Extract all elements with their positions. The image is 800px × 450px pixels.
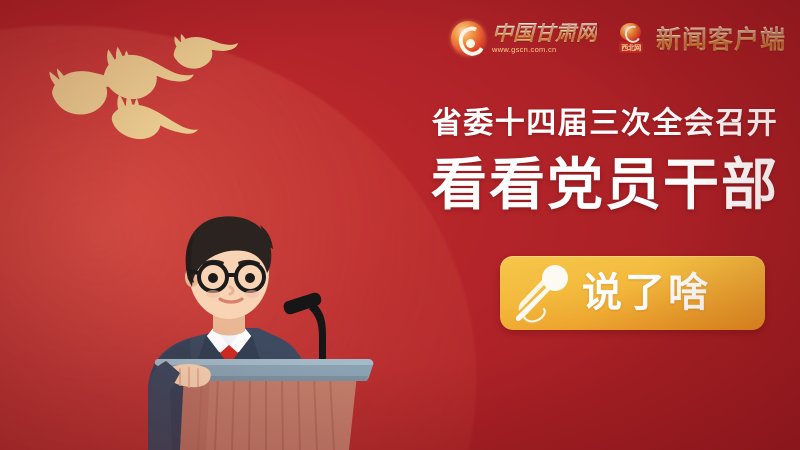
site-logo[interactable]: 中国甘肃网 www.gscn.com.cn xyxy=(451,21,597,55)
logo-bar: 中国甘肃网 www.gscn.com.cn 西北网 新闻客户端 xyxy=(451,20,786,56)
app-logo-name: 新闻客户端 xyxy=(656,20,786,56)
site-logo-name: 中国甘肃网 xyxy=(492,23,597,44)
flame-swirl-badge-icon: 西北网 xyxy=(613,23,649,53)
poster-subtitle: 省委十四届三次全会召开 xyxy=(420,106,790,142)
doves-decoration xyxy=(18,18,248,158)
microphone-icon xyxy=(514,263,572,323)
flame-swirl-logo-icon xyxy=(451,21,485,55)
swirl-shape xyxy=(620,23,641,41)
app-logo[interactable]: 西北网 新闻客户端 xyxy=(613,20,786,56)
poster-banner: 中国甘肃网 www.gscn.com.cn 西北网 新闻客户端 省委十四届三次全… xyxy=(0,0,800,450)
headline-block: 省委十四届三次全会召开 看看党员干部 xyxy=(420,106,790,217)
site-logo-url: www.gscn.com.cn xyxy=(492,46,597,54)
cta-label: 说了啥 xyxy=(582,273,711,313)
cta-button[interactable]: 说了啥 xyxy=(500,256,765,330)
speaker-illustration xyxy=(110,195,400,450)
app-logo-badge-text: 西北网 xyxy=(619,42,643,53)
poster-title: 看看党员干部 xyxy=(420,154,790,217)
